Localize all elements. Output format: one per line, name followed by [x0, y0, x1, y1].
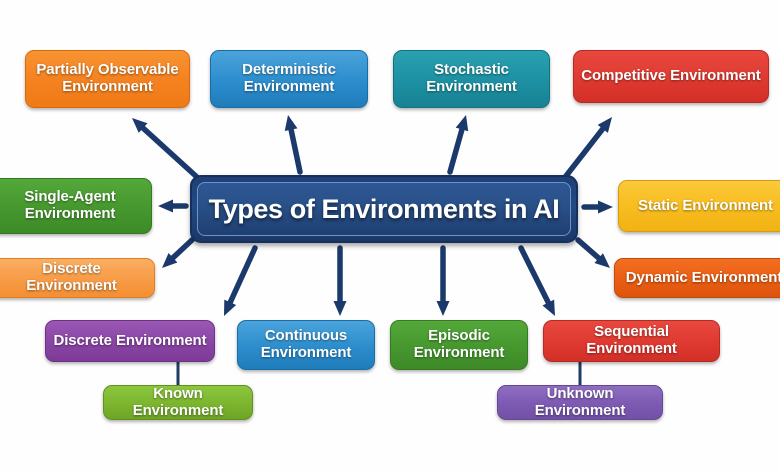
- node-competitive[interactable]: Competitive Environment: [573, 50, 769, 103]
- arrow-to-episodic: [437, 248, 450, 316]
- center-node-label: Types of Environments in AI: [209, 194, 560, 225]
- arrow-to-discrete-left: [162, 240, 192, 268]
- arrow-to-single-agent: [158, 200, 186, 213]
- node-label-dynamic: Dynamic Environment: [626, 270, 780, 287]
- arrow-to-sequential: [521, 248, 555, 316]
- node-label-partially-observable: Partially Observable Environment: [36, 62, 178, 96]
- node-known[interactable]: Known Environment: [103, 385, 253, 420]
- center-node[interactable]: Types of Environments in AI: [190, 175, 578, 243]
- node-label-discrete-bottom: Discrete Environment: [53, 333, 206, 350]
- arrow-to-static: [584, 201, 613, 214]
- node-label-single-agent: Single-Agent Environment: [24, 189, 115, 223]
- node-label-continuous: Continuous Environment: [261, 328, 352, 362]
- node-static[interactable]: Static Environment: [618, 180, 780, 232]
- node-dynamic[interactable]: Dynamic Environment: [614, 258, 780, 298]
- node-discrete-left[interactable]: Discrete Environment: [0, 258, 155, 298]
- node-label-sequential: Sequential Environment: [550, 324, 713, 358]
- node-discrete-bottom[interactable]: Discrete Environment: [45, 320, 215, 362]
- arrow-to-competitive: [566, 117, 612, 176]
- node-label-stochastic: Stochastic Environment: [426, 62, 517, 96]
- node-continuous[interactable]: Continuous Environment: [237, 320, 375, 370]
- arrow-to-stochastic: [450, 115, 468, 172]
- arrow-to-dynamic: [578, 240, 610, 268]
- node-sequential[interactable]: Sequential Environment: [543, 320, 720, 362]
- center-node-inner: Types of Environments in AI: [197, 182, 571, 236]
- node-partially-observable[interactable]: Partially Observable Environment: [25, 50, 190, 108]
- arrow-to-deterministic: [285, 115, 300, 172]
- node-deterministic[interactable]: Deterministic Environment: [210, 50, 368, 108]
- node-label-unknown: Unknown Environment: [504, 386, 656, 420]
- node-label-static: Static Environment: [638, 198, 773, 215]
- node-stochastic[interactable]: Stochastic Environment: [393, 50, 550, 108]
- arrow-to-continuous: [334, 248, 347, 316]
- node-label-deterministic: Deterministic Environment: [242, 62, 336, 96]
- node-label-competitive: Competitive Environment: [581, 68, 760, 85]
- node-unknown[interactable]: Unknown Environment: [497, 385, 663, 420]
- node-label-discrete-left: Discrete Environment: [0, 261, 148, 295]
- node-label-known: Known Environment: [110, 386, 246, 420]
- arrow-to-discrete-bottom: [224, 248, 255, 316]
- diagram-canvas: Types of Environments in AI Partially Ob…: [0, 0, 780, 470]
- node-single-agent[interactable]: Single-Agent Environment: [0, 178, 152, 234]
- node-label-episodic: Episodic Environment: [414, 328, 505, 362]
- node-episodic[interactable]: Episodic Environment: [390, 320, 528, 370]
- arrow-to-partially-observable: [132, 118, 198, 178]
